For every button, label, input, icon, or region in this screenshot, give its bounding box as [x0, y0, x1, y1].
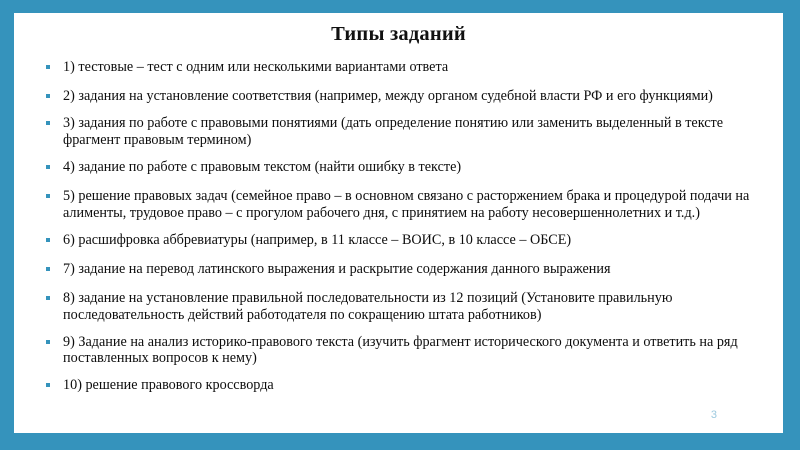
list-item: 7) задание на перевод латинского выражен…	[42, 261, 757, 278]
list-item: 8) задание на установление правильной по…	[42, 290, 757, 323]
bullet-square-icon	[46, 296, 50, 300]
list-item-text: 5) решение правовых задач (семейное прав…	[63, 188, 749, 221]
page-number: 3	[711, 410, 717, 421]
list-item-text: 3) задания по работе с правовыми понятия…	[63, 115, 723, 148]
list-item: 9) Задание на анализ историко-правового …	[42, 334, 757, 367]
page-title: Типы заданий	[14, 23, 783, 46]
list-item: 2) задания на установление соответствия …	[42, 88, 757, 105]
slide-content-area: Типы заданий 1) тестовые – тест с одним …	[14, 13, 783, 433]
list-item: 1) тестовые – тест с одним или нескольки…	[42, 59, 757, 76]
list-item-text: 2) задания на установление соответствия …	[63, 88, 713, 104]
bullet-square-icon	[46, 94, 50, 98]
bullet-list: 1) тестовые – тест с одним или нескольки…	[42, 59, 757, 394]
bullet-square-icon	[46, 238, 50, 242]
bullet-square-icon	[46, 383, 50, 387]
list-item: 6) расшифровка аббревиатуры (например, в…	[42, 232, 757, 249]
bullet-square-icon	[46, 65, 50, 69]
list-item: 3) задания по работе с правовыми понятия…	[42, 115, 757, 148]
bullet-square-icon	[46, 267, 50, 271]
bullet-square-icon	[46, 194, 50, 198]
bullet-square-icon	[46, 165, 50, 169]
list-item: 4) задание по работе с правовым текстом …	[42, 159, 757, 176]
list-item-text: 4) задание по работе с правовым текстом …	[63, 159, 461, 175]
list-item: 5) решение правовых задач (семейное прав…	[42, 188, 757, 221]
list-item-text: 8) задание на установление правильной по…	[63, 290, 672, 323]
list-item: 10) решение правового кроссворда	[42, 377, 757, 394]
list-item-text: 10) решение правового кроссворда	[63, 377, 274, 393]
list-item-text: 7) задание на перевод латинского выражен…	[63, 261, 611, 277]
list-item-text: 9) Задание на анализ историко-правового …	[63, 334, 738, 367]
list-item-text: 6) расшифровка аббревиатуры (например, в…	[63, 232, 571, 248]
bullet-square-icon	[46, 340, 50, 344]
slide-frame: Типы заданий 1) тестовые – тест с одним …	[0, 0, 800, 450]
list-item-text: 1) тестовые – тест с одним или нескольки…	[63, 59, 448, 75]
bullet-square-icon	[46, 121, 50, 125]
